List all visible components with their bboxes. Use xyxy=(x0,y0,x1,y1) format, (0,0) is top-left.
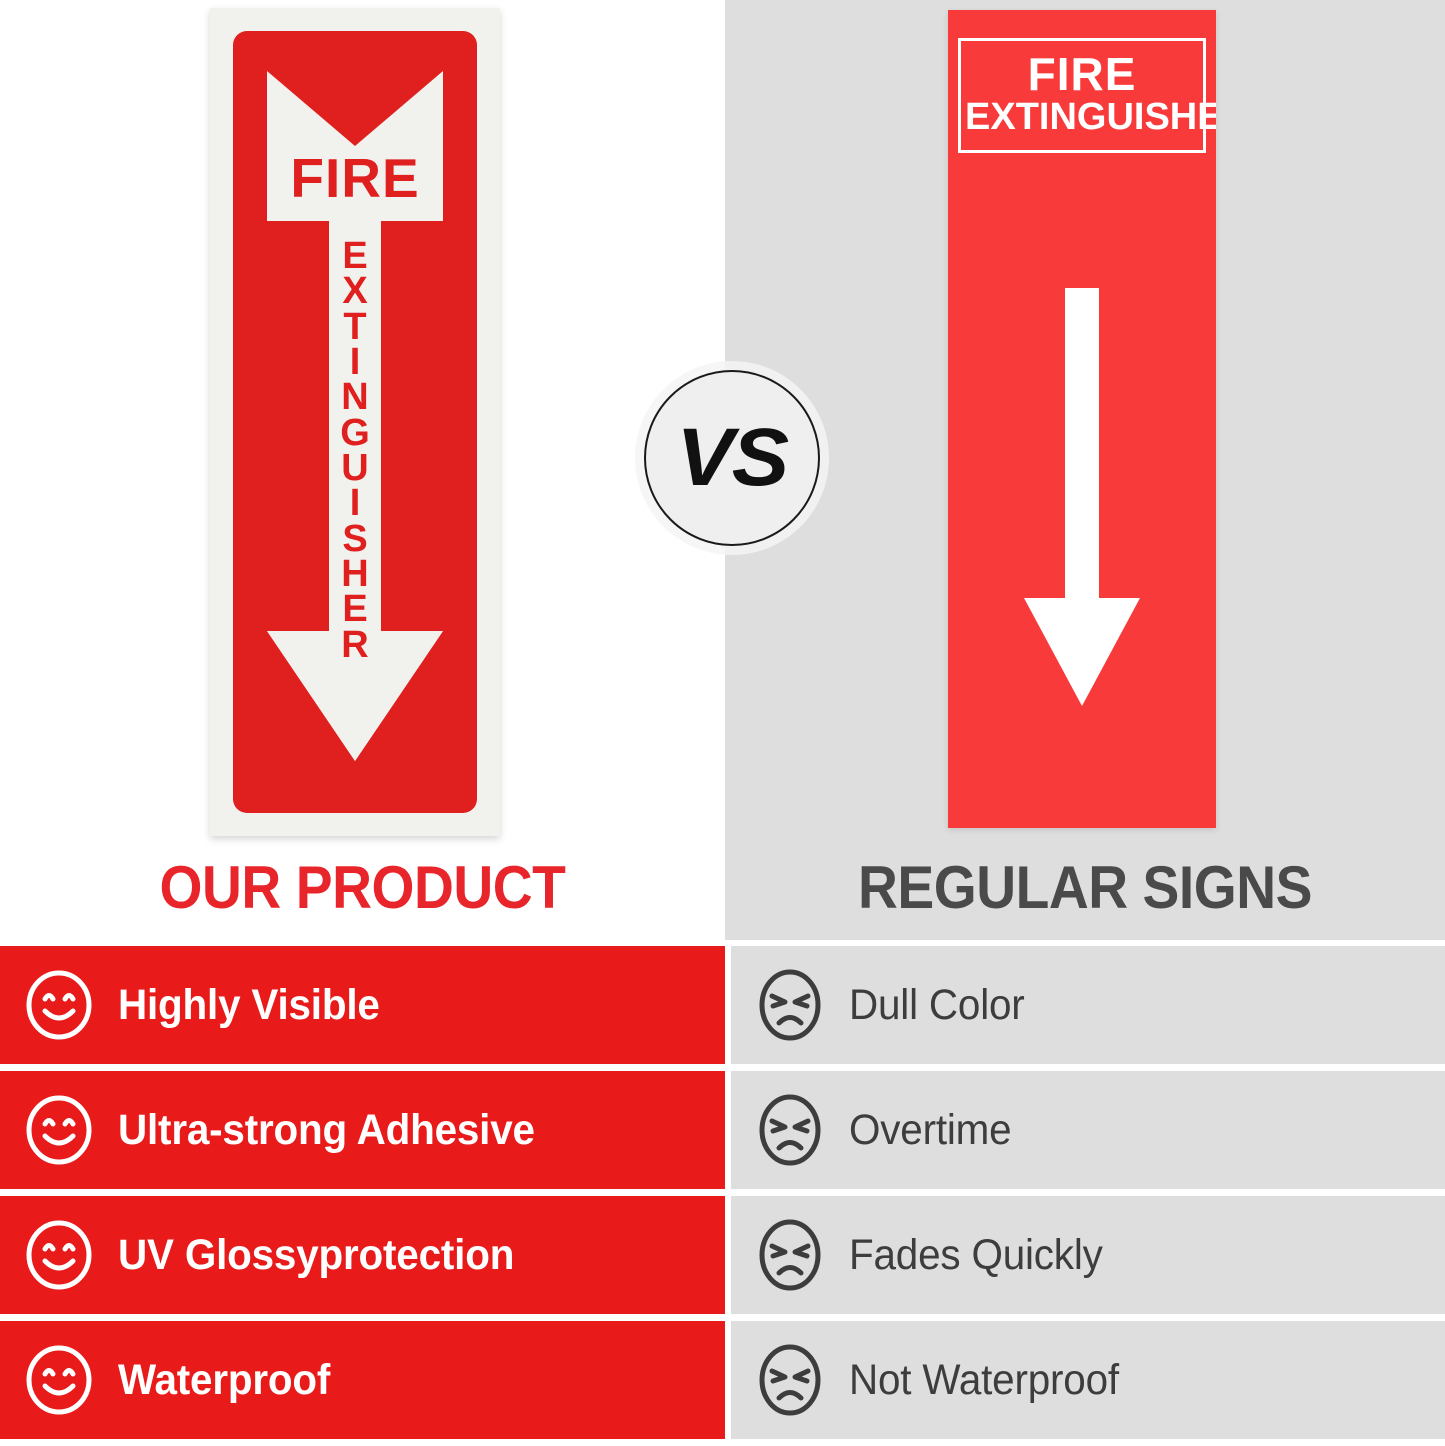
smiley-face-icon xyxy=(0,967,118,1043)
feature-label: Fades Quickly xyxy=(849,1231,1103,1280)
sad-face-icon xyxy=(731,1215,849,1295)
feature-label: Waterproof xyxy=(118,1356,330,1405)
sign-subtitle-letter: E xyxy=(233,592,477,627)
sad-face-icon xyxy=(731,965,849,1045)
list-item: Overtime xyxy=(731,1071,1445,1189)
regular-signs-heading: REGULAR SIGNS xyxy=(754,852,1416,924)
smiley-face-icon xyxy=(0,1342,118,1418)
sign-subtitle-letter: G xyxy=(233,416,477,451)
sign-subtitle-letter: E xyxy=(233,239,477,274)
sad-face-icon xyxy=(731,1340,849,1420)
versus-badge: VS xyxy=(644,370,820,546)
regular-sign: FIRE EXTINGUISHER xyxy=(948,10,1216,828)
list-item: UV Glossyprotection xyxy=(0,1196,725,1314)
smiley-face-icon xyxy=(0,1217,118,1293)
our-product-heading: OUR PRODUCT xyxy=(29,852,696,924)
sad-face-glyph xyxy=(754,1215,826,1295)
versus-label: VS xyxy=(677,411,788,505)
list-item: Highly Visible xyxy=(0,946,725,1064)
comparison-infographic: FIRE E X T I N G U I S H E R FIRE EXTING… xyxy=(0,0,1445,1445)
sign-subtitle-letter: I xyxy=(233,345,477,380)
sad-face-glyph xyxy=(754,1340,826,1420)
feature-label: Not Waterproof xyxy=(849,1356,1119,1405)
sign-title: FIRE xyxy=(965,50,1199,98)
sign-subtitle: EXTINGUISHER xyxy=(965,98,1199,138)
smiley-face-glyph xyxy=(23,1342,95,1418)
sign-subtitle-letter: R xyxy=(233,628,477,663)
our-product-sign-panel: FIRE E X T I N G U I S H E R xyxy=(233,31,477,813)
regular-sign-text-box: FIRE EXTINGUISHER xyxy=(958,38,1206,153)
sign-subtitle-letter: H xyxy=(233,557,477,592)
down-arrow-icon xyxy=(1022,288,1142,708)
sign-subtitle-vertical: E X T I N G U I S H E R xyxy=(233,239,477,663)
list-item: Fades Quickly xyxy=(731,1196,1445,1314)
feature-label: Overtime xyxy=(849,1106,1011,1155)
feature-label: UV Glossyprotection xyxy=(118,1231,514,1280)
our-product-sign: FIRE E X T I N G U I S H E R xyxy=(210,8,500,836)
sad-face-glyph xyxy=(754,965,826,1045)
sign-subtitle-letter: X xyxy=(233,274,477,309)
sign-title: FIRE xyxy=(233,151,477,206)
sign-subtitle-letter: S xyxy=(233,522,477,557)
list-item: Ultra-strong Adhesive xyxy=(0,1071,725,1189)
sign-subtitle-letter: I xyxy=(233,486,477,521)
feature-label: Dull Color xyxy=(849,981,1025,1030)
regular-signs-feature-list: Dull Color Overtime xyxy=(731,946,1445,1446)
list-item: Not Waterproof xyxy=(731,1321,1445,1439)
sign-subtitle-letter: U xyxy=(233,451,477,486)
sad-face-glyph xyxy=(754,1090,826,1170)
sad-face-icon xyxy=(731,1090,849,1170)
list-item: Waterproof xyxy=(0,1321,725,1439)
feature-label: Highly Visible xyxy=(118,981,380,1030)
smiley-face-icon xyxy=(0,1092,118,1168)
smiley-face-glyph xyxy=(23,1092,95,1168)
list-item: Dull Color xyxy=(731,946,1445,1064)
sign-subtitle-letter: N xyxy=(233,380,477,415)
sign-subtitle-letter: T xyxy=(233,310,477,345)
feature-label: Ultra-strong Adhesive xyxy=(118,1106,535,1155)
smiley-face-glyph xyxy=(23,967,95,1043)
smiley-face-glyph xyxy=(23,1217,95,1293)
our-product-feature-list: Highly Visible Ultra-strong Adhesive xyxy=(0,946,725,1446)
